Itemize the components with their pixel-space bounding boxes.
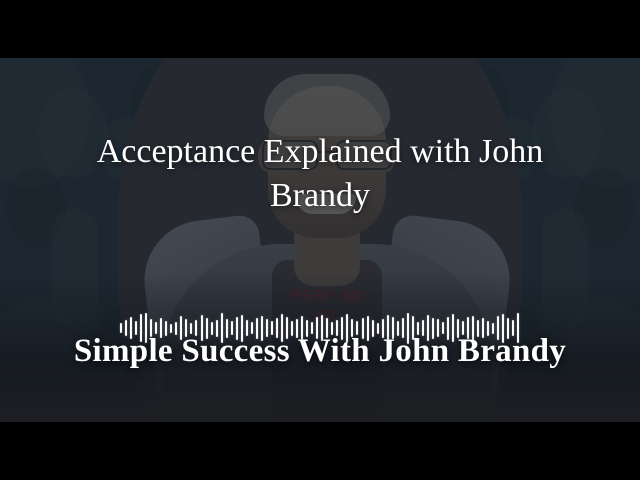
waveform-bar bbox=[120, 323, 122, 333]
letterbox-bottom bbox=[0, 422, 640, 480]
waveform-bar bbox=[170, 324, 172, 333]
waveform-bar bbox=[190, 323, 192, 334]
episode-title: Acceptance Explained with John Brandy bbox=[50, 130, 590, 218]
letterbox-top bbox=[0, 0, 640, 58]
waveform-bar bbox=[377, 323, 379, 334]
video-thumbnail-frame: PERF NO ST Acceptance Explained with Joh… bbox=[0, 0, 640, 480]
artwork-canvas: PERF NO ST Acceptance Explained with Joh… bbox=[0, 58, 640, 422]
waveform-bar bbox=[492, 323, 494, 334]
show-title: Simple Success With John Brandy bbox=[20, 333, 620, 370]
